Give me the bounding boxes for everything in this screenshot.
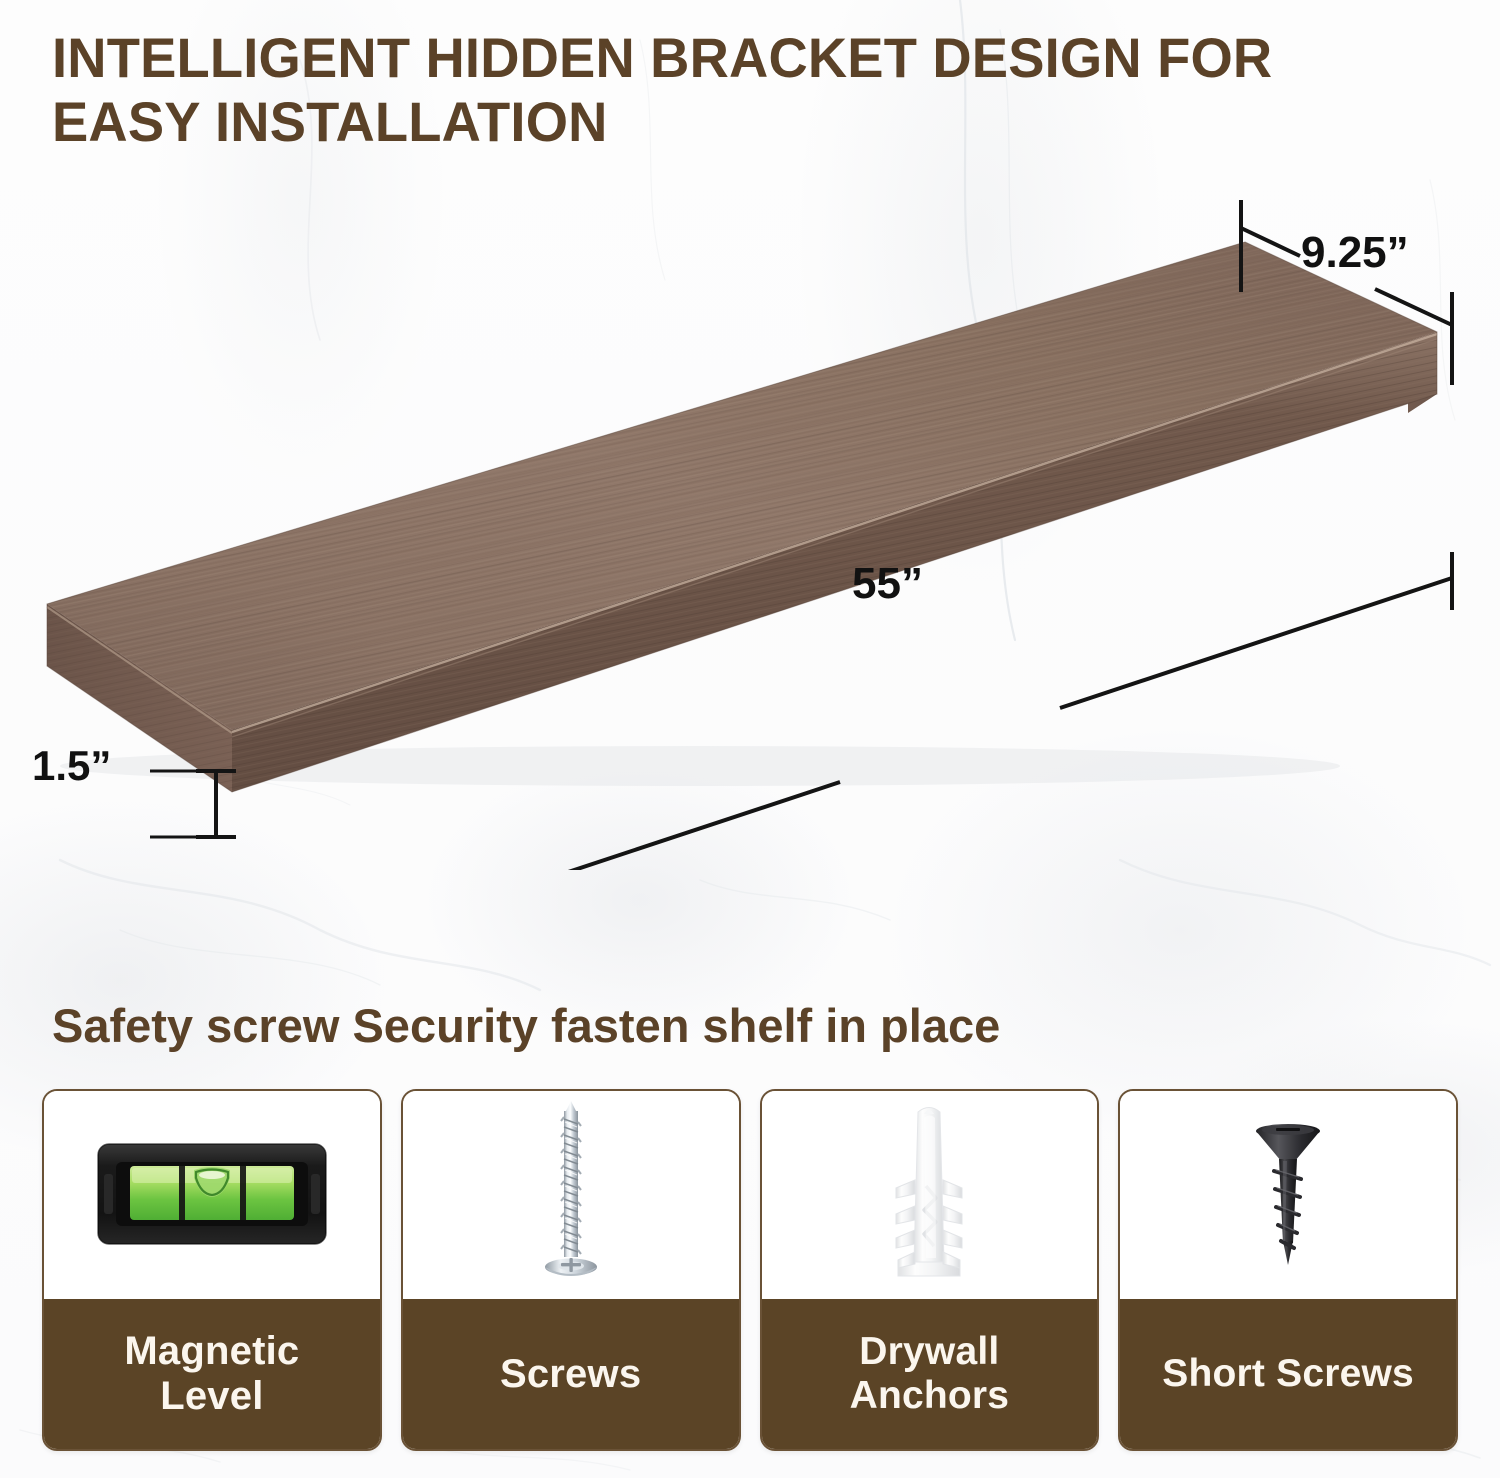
section-subtitle: Safety screw Security fasten shelf in pl…	[52, 1000, 1352, 1052]
long-screw-icon	[523, 1097, 619, 1293]
card-art	[762, 1091, 1098, 1299]
hardware-card-magnetic-level[interactable]: Magnetic Level	[42, 1089, 382, 1451]
card-label-line-2: Anchors	[850, 1374, 1010, 1418]
leader-length-left	[224, 782, 840, 870]
hardware-card-short-screws[interactable]: Short Screws	[1118, 1089, 1458, 1451]
card-label: Drywall Anchors	[850, 1330, 1010, 1417]
hardware-card-screws[interactable]: Screws	[401, 1089, 741, 1451]
hardware-card-list: Magnetic Level	[42, 1089, 1458, 1451]
card-art	[403, 1091, 739, 1299]
product-infographic: INTELLIGENT HIDDEN BRACKET DESIGN FOR EA…	[0, 0, 1500, 1478]
card-label-band: Magnetic Level	[44, 1299, 380, 1449]
card-art	[1120, 1091, 1456, 1299]
hardware-card-drywall-anchors[interactable]: Drywall Anchors	[760, 1089, 1100, 1451]
page-title-line-1: INTELLIGENT HIDDEN BRACKET DESIGN FOR	[52, 26, 1429, 90]
short-screw-icon	[1233, 1115, 1343, 1275]
shelf-diagram	[0, 170, 1500, 870]
drywall-anchor-icon	[874, 1102, 984, 1288]
card-label: Short Screws	[1162, 1352, 1414, 1396]
leader-length-right	[1060, 578, 1452, 708]
card-art	[44, 1091, 380, 1299]
card-label-band: Screws	[403, 1299, 739, 1449]
shelf-top-face	[47, 242, 1437, 730]
dimension-thickness-label: 1.5”	[32, 742, 111, 790]
card-label: Magnetic Level	[124, 1329, 299, 1419]
dimension-depth-label: 9.25”	[1301, 228, 1409, 278]
card-label-line-1: Magnetic	[124, 1329, 299, 1374]
card-label-line-2: Level	[124, 1374, 299, 1419]
card-label-line-1: Drywall	[850, 1330, 1010, 1374]
card-label-band: Drywall Anchors	[762, 1299, 1098, 1449]
dimension-length-label: 55”	[852, 559, 923, 609]
magnetic-level-icon	[92, 1130, 332, 1260]
card-label: Screws	[500, 1352, 641, 1397]
shelf-illustration: 9.25” 55” 1.5”	[0, 170, 1500, 870]
page-title: INTELLIGENT HIDDEN BRACKET DESIGN FOR EA…	[52, 26, 1429, 154]
card-label-band: Short Screws	[1120, 1299, 1456, 1449]
page-title-line-2: EASY INSTALLATION	[52, 90, 1429, 154]
